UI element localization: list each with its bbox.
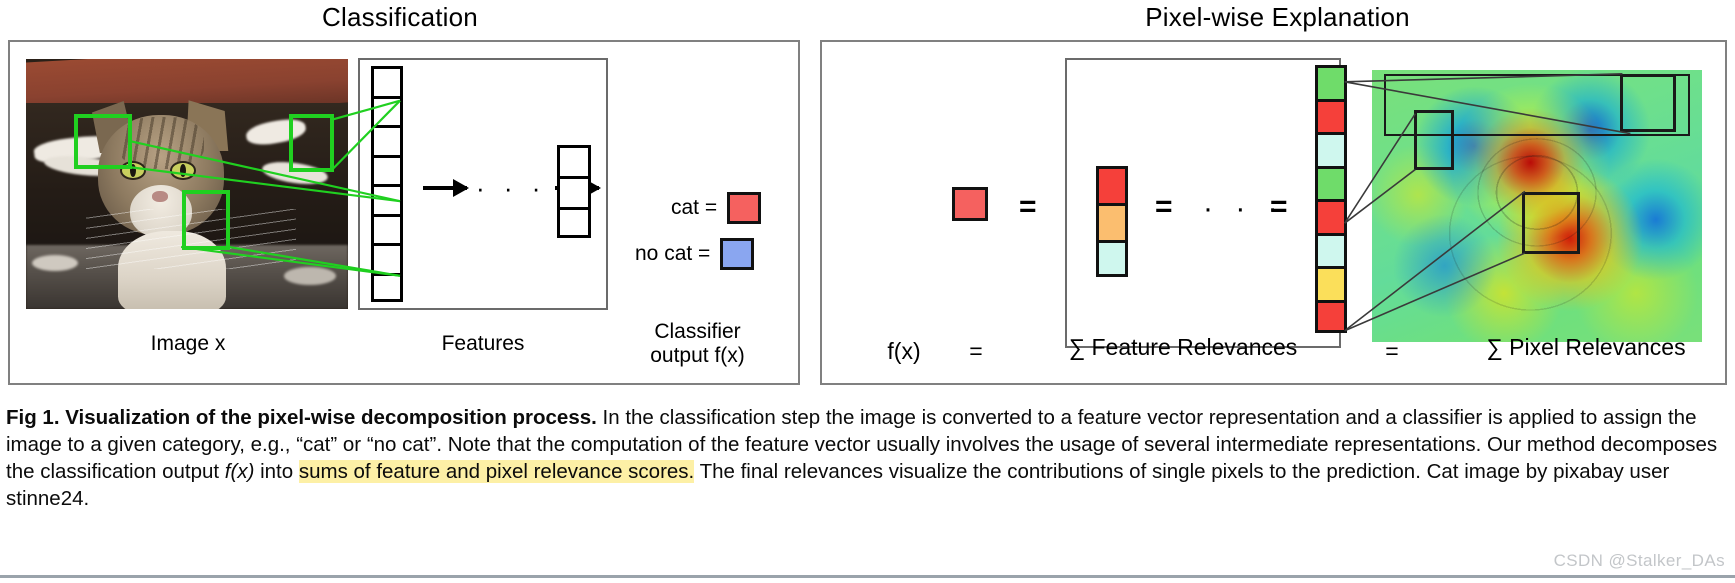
vector-cell [371,273,403,303]
feature-vector [371,66,403,302]
classifier-output-label-line2: output f(x) [610,344,785,368]
cat-image [26,59,348,309]
legend-swatch-no-cat [720,238,754,270]
image-x-label: Image x [88,332,288,356]
output-vector [557,145,591,238]
relevance-cell [1315,300,1347,334]
output-relevance-swatch [952,187,988,221]
vector-cell [371,125,403,155]
legend-label-no-cat: no cat = [635,242,710,266]
pixelwise-panel-title: Pixel-wise Explanation [820,2,1735,33]
roi-box-ear-left [74,114,132,169]
pixelwise-panel: = = · · · = [820,40,1727,385]
relevance-cell [1096,240,1128,277]
figure-caption: Fig 1. Visualization of the pixel-wise d… [6,404,1728,512]
vector-cell [371,66,403,96]
pixel-relevance-vector [1315,65,1347,333]
caption-bold-lead: Fig 1. Visualization of the pixel-wise d… [6,406,597,429]
roi-box-roof-right [289,114,334,172]
relevance-cell [1315,132,1347,166]
ground-speckle [284,267,336,285]
equals-sign-1: = [1019,192,1037,222]
bottom-divider [0,575,1735,578]
relevance-cell [1096,203,1128,240]
relevance-cell [1315,233,1347,267]
csdn-watermark: CSDN @Stalker_DAs [1554,551,1725,571]
equation-equals-2: = [1362,338,1422,365]
equation-sum-feature-relevances: ∑ Feature Relevances [1018,334,1348,361]
arrow-dots: · · · [476,175,546,201]
relevance-cell [1096,166,1128,203]
arrow-icon [423,186,467,190]
legend-label-cat: cat = [671,196,717,220]
relevance-cell [1315,199,1347,233]
caption-highlighted-text: sums of feature and pixel relevance scor… [299,460,694,483]
equation-sum-pixel-relevances: ∑ Pixel Relevances [1436,334,1735,361]
relevance-cell [1315,99,1347,133]
legend-row-no-cat: no cat = [635,238,754,270]
vector-cell [371,214,403,244]
vector-cell [371,96,403,126]
relevance-cell [1315,65,1347,99]
cat-nose [152,191,168,202]
vector-cell [371,184,403,214]
relevance-heatmap [1372,70,1702,342]
vector-cell [371,155,403,185]
classification-panel: · · · cat = no cat = Image x Features Cl… [8,40,800,385]
figure-area: Classification Pixel-wise Explanation [0,0,1735,400]
caption-text-part-2: into [254,460,298,483]
vector-cell [371,243,403,273]
relevance-cell [1315,266,1347,300]
relevance-cell [1315,166,1347,200]
roi-box-cheek [182,190,230,250]
classification-panel-title: Classification [0,2,800,33]
caption-italic-fx: f(x) [225,460,255,483]
features-label: Features [388,332,578,356]
vector-cell [557,176,591,207]
heatmap-box-ear [1414,110,1454,170]
equation-equals-1: = [946,338,1006,365]
intermediate-relevance-vector [1096,166,1128,277]
cat-pupil-right [180,164,186,177]
vector-cell [557,207,591,238]
ground-speckle [32,255,78,271]
equals-sign-2: = [1155,192,1173,222]
classifier-output-label-line1: Classifier [610,320,785,344]
vector-cell [557,145,591,176]
heatmap-box-cheek [1522,192,1580,254]
legend-swatch-cat [727,192,761,224]
heatmap-box-roof [1620,74,1676,132]
equals-sign-3: = [1270,192,1288,222]
legend-row-cat: cat = [671,192,761,224]
